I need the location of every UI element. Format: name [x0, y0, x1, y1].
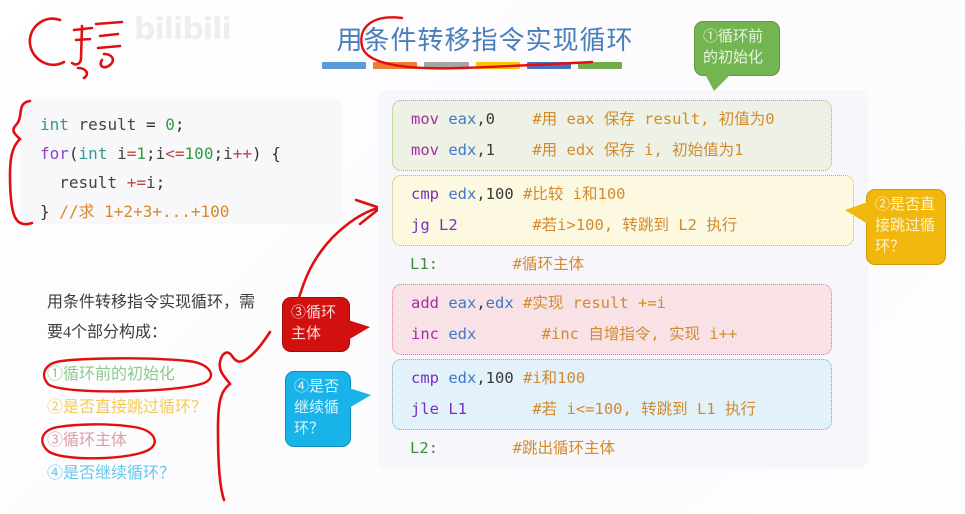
title-decoration-bars: [322, 62, 622, 69]
code-token: L2: [439, 216, 458, 234]
code-token: #用 eax 保存 result, 初值为0: [532, 110, 774, 128]
code-token: edx: [448, 185, 476, 203]
callout-init: ①循环前的初始化: [694, 21, 780, 76]
code-token: result: [79, 115, 137, 134]
title-bar-2: [424, 62, 468, 69]
page-title: 用条件转移指令实现循环: [320, 20, 650, 57]
title-bar-3: [476, 62, 520, 69]
code-token: eax: [448, 294, 476, 312]
asm-block-init: mov eax,0 #用 eax 保存 result, 初值为0 mov edx…: [392, 100, 832, 171]
asm-row: add eax,edx #实现 result +=i: [393, 288, 831, 319]
code-token: for: [40, 144, 69, 163]
code-token: result: [40, 173, 127, 192]
handwritten-c-language-logo: [18, 8, 148, 80]
asm-label-l2: L2: #跳出循环主体: [378, 433, 868, 464]
asm-row: mov edx,1 #用 edx 保存 i, 初始值为1: [393, 135, 831, 166]
asm-block-body: add eax,edx #实现 result +=i inc edx #inc …: [392, 284, 832, 355]
code-token: eax: [448, 110, 476, 128]
list-item-4: ④是否继续循环？: [47, 457, 262, 490]
explanation-paragraph: 用条件转移指令实现循环，需要4个部分构成：: [47, 288, 262, 348]
bullet-list: ①循环前的初始化 ②是否直接跳过循环？ ③循环主体 ④是否继续循环？: [47, 358, 262, 490]
callout-skip: ②是否直接跳过循环？: [866, 189, 946, 265]
asm-row: jle L1 #若 i<=100, 转跳到 L1 执行: [393, 394, 831, 425]
code-token: jg: [411, 216, 439, 234]
list-item-3: ③循环主体: [47, 424, 262, 457]
assembly-code-panel: mov eax,0 #用 eax 保存 result, 初值为0 mov edx…: [378, 90, 868, 468]
title-bar-1: [373, 62, 417, 69]
title-bar-4: [527, 62, 571, 69]
callout-tail-icon: [705, 74, 731, 91]
code-token: [438, 255, 513, 273]
code-token: L1:: [410, 255, 438, 273]
code-token: =: [136, 115, 165, 134]
asm-row: inc edx #inc 自增指令, 实现 i++: [393, 319, 831, 350]
code-token: edx: [448, 141, 476, 159]
code-token: [438, 439, 513, 457]
code-token: [514, 294, 523, 312]
slide-canvas: bilibili 用条件转移指令实现循环: [0, 0, 965, 514]
callout-body-label: ③循环主体: [291, 305, 336, 342]
code-token: (: [69, 144, 79, 163]
c-code-line: int result = 0;: [40, 110, 342, 139]
callout-tail-icon: [348, 320, 370, 340]
callout-tail-icon: [845, 202, 868, 224]
callout-body: ③循环主体: [282, 297, 350, 352]
code-token: <=: [165, 144, 184, 163]
code-token: mov: [411, 141, 448, 159]
code-token: ;: [156, 173, 166, 192]
code-token: jle: [411, 400, 448, 418]
c-code-line: for(int i=1;i<=100;i++) {: [40, 139, 342, 168]
code-token: L1: [448, 400, 467, 418]
code-token: }: [40, 202, 59, 221]
code-token: #若i>100, 转跳到 L2 执行: [532, 216, 737, 234]
code-token: #若 i<=100, 转跳到 L1 执行: [532, 400, 756, 418]
code-token: #inc 自增指令, 实现 i++: [542, 325, 738, 343]
code-token: #实现 result +=i: [523, 294, 666, 312]
code-token: +=: [127, 173, 146, 192]
code-token: mov: [411, 110, 448, 128]
c-code-line: } //求 1+2+3+...+100: [40, 197, 342, 226]
bilibili-watermark: bilibili: [134, 12, 231, 47]
code-token: ++: [233, 144, 252, 163]
code-token: [458, 216, 533, 234]
c-code-line: result +=i;: [40, 168, 342, 197]
code-token: int: [40, 115, 69, 134]
callout-continue: ④是否继续循环？: [285, 371, 351, 447]
code-token: ;: [213, 144, 223, 163]
code-token: #跳出循环主体: [513, 439, 615, 457]
code-token: ;: [175, 115, 185, 134]
code-token: ,: [476, 294, 485, 312]
callout-tail-icon: [349, 388, 371, 408]
code-token: //求 1+2+3+...+100: [59, 202, 229, 221]
code-token: ,0: [476, 110, 495, 128]
code-token: #比较 i和100: [523, 185, 626, 203]
code-token: inc: [411, 325, 448, 343]
code-token: ,1: [476, 141, 495, 159]
code-token: =: [127, 144, 137, 163]
code-token: ) {: [252, 144, 281, 163]
code-token: L2:: [410, 439, 438, 457]
code-token: int: [79, 144, 108, 163]
code-token: [467, 400, 532, 418]
asm-block-skip-test: cmp edx,100 #比较 i和100 jg L2 #若i>100, 转跳到…: [392, 175, 854, 246]
code-token: 100: [185, 144, 214, 163]
code-token: cmp: [411, 369, 448, 387]
code-token: add: [411, 294, 448, 312]
code-token: i: [223, 144, 233, 163]
code-token: 0: [165, 115, 175, 134]
code-token: ,100: [476, 185, 523, 203]
code-token: #i和100: [523, 369, 585, 387]
c-code-block: int result = 0; for(int i=1;i<=100;i++) …: [20, 99, 342, 224]
code-token: ,100: [476, 369, 523, 387]
code-token: [495, 141, 532, 159]
asm-row: jg L2 #若i>100, 转跳到 L2 执行: [393, 210, 853, 241]
code-token: #用 edx 保存 i, 初始值为1: [532, 141, 743, 159]
asm-row: cmp edx,100 #i和100: [393, 363, 831, 394]
code-token: i: [146, 173, 156, 192]
code-token: i: [107, 144, 126, 163]
asm-label-l1: L1: #循环主体: [378, 249, 868, 280]
asm-row: mov eax,0 #用 eax 保存 result, 初值为0: [393, 104, 831, 135]
callout-init-label: ①循环前的初始化: [703, 29, 763, 66]
list-item-1: ①循环前的初始化: [47, 358, 262, 391]
code-token: edx: [486, 294, 514, 312]
callout-continue-label: ④是否继续循环？: [294, 379, 339, 437]
code-token: 1: [136, 144, 146, 163]
title-bar-5: [578, 62, 622, 69]
code-token: [495, 110, 532, 128]
asm-block-loop-test: cmp edx,100 #i和100 jle L1 #若 i<=100, 转跳到…: [392, 359, 832, 430]
asm-row: cmp edx,100 #比较 i和100: [393, 179, 853, 210]
code-token: [69, 115, 79, 134]
code-token: cmp: [411, 185, 448, 203]
code-token: edx: [448, 325, 476, 343]
code-token: edx: [448, 369, 476, 387]
code-token: #循环主体: [513, 255, 584, 273]
code-token: [476, 325, 541, 343]
code-token: i: [156, 144, 166, 163]
callout-skip-label: ②是否直接跳过循环？: [875, 197, 935, 255]
code-token: ;: [146, 144, 156, 163]
list-item-2: ②是否直接跳过循环？: [47, 391, 262, 424]
title-bar-0: [322, 62, 366, 69]
